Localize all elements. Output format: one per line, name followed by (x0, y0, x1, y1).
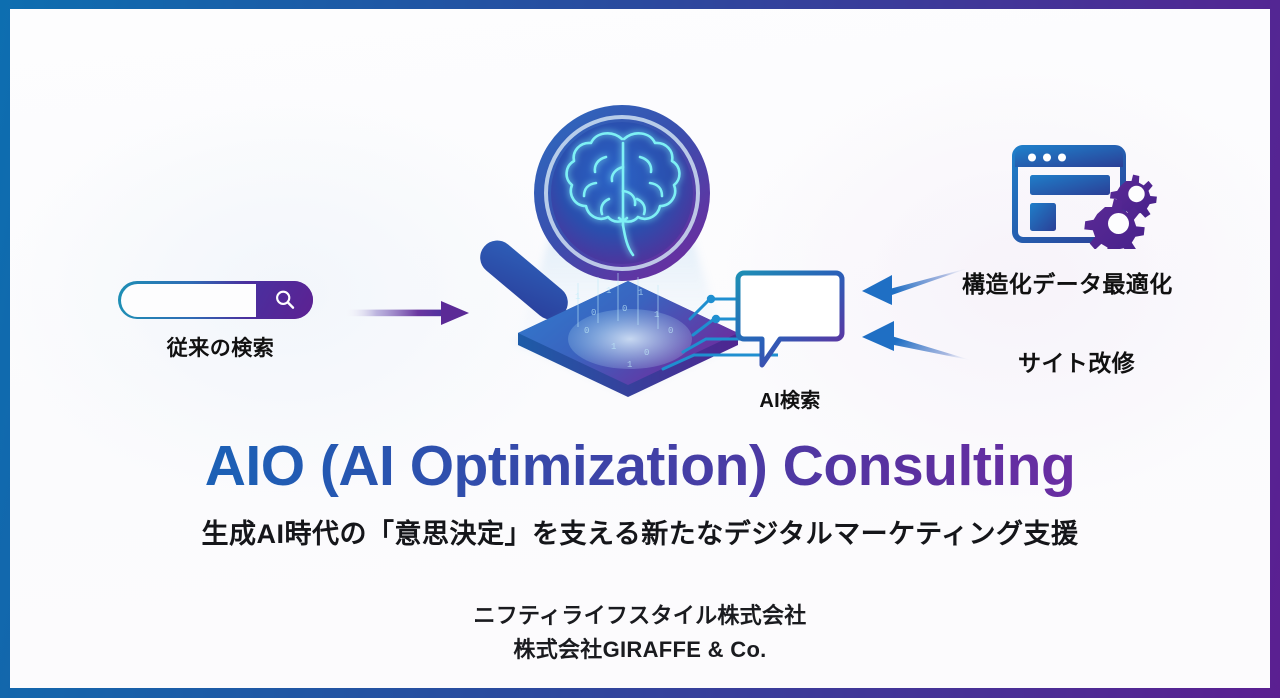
traditional-search-group: 従来の検索 (118, 281, 323, 362)
page-subtitle: 生成AI時代の「意思決定」を支える新たなデジタルマーケティング支援 (10, 512, 1270, 551)
svg-text:0: 0 (644, 348, 649, 358)
browser-side-block (1030, 203, 1056, 231)
svg-text:1: 1 (606, 286, 611, 296)
svg-text:1: 1 (611, 342, 616, 352)
window-dots (1028, 154, 1066, 162)
ai-magnifier-brain: 101 011 00 101 (478, 87, 778, 397)
footer-companies: ニフティライフスタイル株式会社 株式会社GIRAFFE & Co. (10, 599, 1270, 667)
footer-company-1: ニフティライフスタイル株式会社 (10, 599, 1270, 633)
svg-text:1: 1 (654, 310, 659, 320)
footer-company-2: 株式会社GIRAFFE & Co. (10, 633, 1270, 667)
search-input[interactable] (118, 281, 313, 319)
inbound-arrows (848, 261, 976, 371)
inbound-arrow-2 (884, 335, 974, 361)
slide-frame: 従来の検索 (0, 0, 1280, 698)
svg-text:1: 1 (627, 360, 632, 370)
magnifier-icon (273, 288, 297, 312)
svg-text:1: 1 (638, 288, 643, 298)
page-title: AIO (AI Optimization) Consulting (10, 433, 1270, 499)
ai-search-caption: AI検索 (734, 384, 846, 413)
flow-arrow-right (343, 296, 471, 330)
label-site-renewal: サイト改修 (1018, 344, 1135, 378)
ai-answer-bubble-group: AI検索 (734, 267, 846, 413)
traditional-search-caption: 従来の検索 (118, 332, 323, 362)
browser-window-gears-icon (1010, 141, 1158, 249)
svg-text:0: 0 (584, 326, 589, 336)
inbound-arrow-1 (882, 267, 972, 297)
svg-text:0: 0 (591, 308, 596, 318)
ai-answer-bubble (734, 267, 846, 371)
browser-hero-block (1030, 175, 1110, 195)
search-button[interactable] (256, 281, 313, 319)
svg-text:0: 0 (622, 304, 627, 314)
svg-text:0: 0 (668, 326, 673, 336)
label-structured-data: 構造化データ最適化 (962, 265, 1173, 299)
slide-canvas: 従来の検索 (10, 9, 1270, 688)
